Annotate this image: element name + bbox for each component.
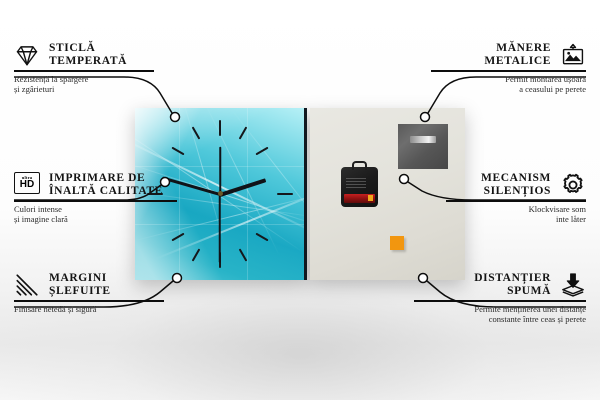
feature-handles: MĂNERE METALICE Permit montarea ușoară a… <box>386 42 586 95</box>
feature-edges-sub: Finisare netedă și sigură <box>14 302 214 315</box>
second-hand-upper <box>219 147 221 195</box>
bevelled-edge-icon <box>14 272 40 298</box>
metal-hanger <box>398 124 448 169</box>
battery <box>344 194 375 203</box>
feature-print-head: ultra HD IMPRIMARE DE ÎNALTĂ CALITATE <box>14 172 214 200</box>
picture-frame-hanger-icon <box>560 42 586 68</box>
feature-glass-head: STICLĂ TEMPERATĂ <box>14 42 214 70</box>
feature-mechanism-sub: Klockvisare som inte låter <box>386 202 586 225</box>
second-hand <box>219 195 221 263</box>
gear-icon <box>560 172 586 198</box>
feature-mechanism-title: MECANISM SILENȚIOS <box>481 172 551 198</box>
mechanism-hook <box>352 161 367 170</box>
feature-spacer-title: DISTANȚIER SPUMĂ <box>474 272 551 298</box>
hour-marker <box>255 233 268 242</box>
feature-glass: STICLĂ TEMPERATĂ Rezistență la spargere … <box>14 42 214 95</box>
hanger-slot <box>410 136 436 143</box>
feature-print-sub: Culori intense și imagine clară <box>14 202 214 225</box>
feature-handles-head: MĂNERE METALICE <box>386 42 586 70</box>
diamond-icon <box>14 42 40 68</box>
hour-marker <box>219 120 221 136</box>
infographic-canvas: STICLĂ TEMPERATĂ Rezistență la spargere … <box>0 0 600 400</box>
feature-edges: MARGINI ȘLEFUITE Finisare netedă și sigu… <box>14 272 214 314</box>
feature-handles-title: MĂNERE METALICE <box>484 42 551 68</box>
hour-marker <box>192 248 201 261</box>
feature-spacer: DISTANȚIER SPUMĂ Permite menținerea unei… <box>386 272 586 325</box>
ultra-hd-icon: ultra HD <box>14 172 40 198</box>
mechanism-label <box>346 176 366 188</box>
feature-spacer-head: DISTANȚIER SPUMĂ <box>386 272 586 300</box>
foam-spacer <box>390 236 404 250</box>
foam-spacer-icon <box>560 272 586 298</box>
hour-marker <box>171 233 184 242</box>
quartz-mechanism <box>341 167 378 207</box>
feature-mechanism-head: MECANISM SILENȚIOS <box>386 172 586 200</box>
feature-glass-sub: Rezistență la spargere și zgârieturi <box>14 72 214 95</box>
feature-mechanism: MECANISM SILENȚIOS Klockvisare som inte … <box>386 172 586 225</box>
feature-handles-sub: Permit montarea ușoară a ceasului pe per… <box>386 72 586 95</box>
feature-print-title: IMPRIMARE DE ÎNALTĂ CALITATE <box>49 172 163 198</box>
feature-glass-title: STICLĂ TEMPERATĂ <box>49 42 127 68</box>
feature-print: ultra HD IMPRIMARE DE ÎNALTĂ CALITATE Cu… <box>14 172 214 225</box>
feature-edges-head: MARGINI ȘLEFUITE <box>14 272 214 300</box>
hour-marker <box>277 193 293 195</box>
hour-marker <box>171 147 184 156</box>
feature-spacer-sub: Permite menținerea unei distanțe constan… <box>386 302 586 325</box>
feature-edges-title: MARGINI ȘLEFUITE <box>49 272 111 298</box>
hands-center-pin <box>218 191 223 196</box>
